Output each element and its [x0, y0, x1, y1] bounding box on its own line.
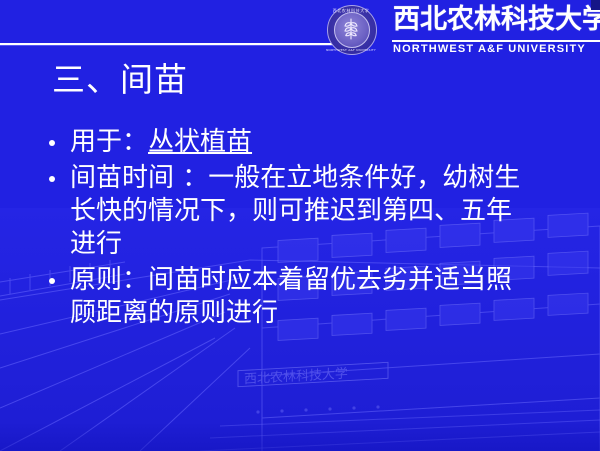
bullet-line: 间苗时间 ：一般在立地条件好，幼树生: [70, 162, 584, 195]
university-logo: 西北农林科技大学 NORTHWEST A&F UNIVERSITY: [326, 4, 378, 56]
bullet-dot-icon: [49, 278, 55, 284]
bullet-dot-icon: [49, 140, 55, 146]
logo-arc-text-en: NORTHWEST A&F UNIVERSITY: [326, 48, 376, 52]
university-name-english: NORTHWEST A&F UNIVERSITY: [393, 43, 598, 55]
wheat-icon: [334, 12, 368, 46]
bullet-line: 原则：间苗时应本着留优去劣并适当照: [70, 264, 584, 297]
slide-header: 西北农林科技大学 NORTHWEST A&F UNIVERSITY 西北农林科技…: [0, 0, 600, 60]
university-name-chinese: 西北农林科技大学: [393, 2, 598, 38]
presentation-slide: 西北农林科技大学: [0, 0, 600, 451]
list-item: 用于：丛状植苗: [44, 126, 584, 159]
page-title: 三、间苗: [52, 58, 188, 102]
header-divider-left: [0, 43, 332, 45]
bullet-line-underlined: 丛状植苗: [148, 127, 252, 157]
bullet-line: 进行: [70, 228, 584, 261]
top-right-corner-artifact: [591, 0, 600, 10]
logo-arc-text-cn: 西北农林科技大学: [326, 8, 376, 14]
bullet-line: 顾距离的原则进行: [70, 297, 584, 330]
background-bottom-shade: [0, 421, 600, 451]
bullet-list: 用于：丛状植苗 间苗时间 ：一般在立地条件好，幼树生 长快的情况下，则可推迟到第…: [44, 126, 584, 330]
bullet-line: 长快的情况下，则可推迟到第四、五年: [70, 195, 584, 228]
list-item: 原则：间苗时应本着留优去劣并适当照 顾距离的原则进行: [44, 264, 584, 330]
bullet-dot-icon: [49, 176, 55, 182]
bullet-line-plain: 用于：: [70, 127, 148, 157]
list-item: 间苗时间 ：一般在立地条件好，幼树生 长快的情况下，则可推迟到第四、五年 进行: [44, 162, 584, 261]
svg-text:西北农林科技大学: 西北农林科技大学: [244, 366, 348, 388]
bullet-line: 用于：丛状植苗: [70, 126, 584, 159]
header-divider-right: [392, 40, 600, 42]
